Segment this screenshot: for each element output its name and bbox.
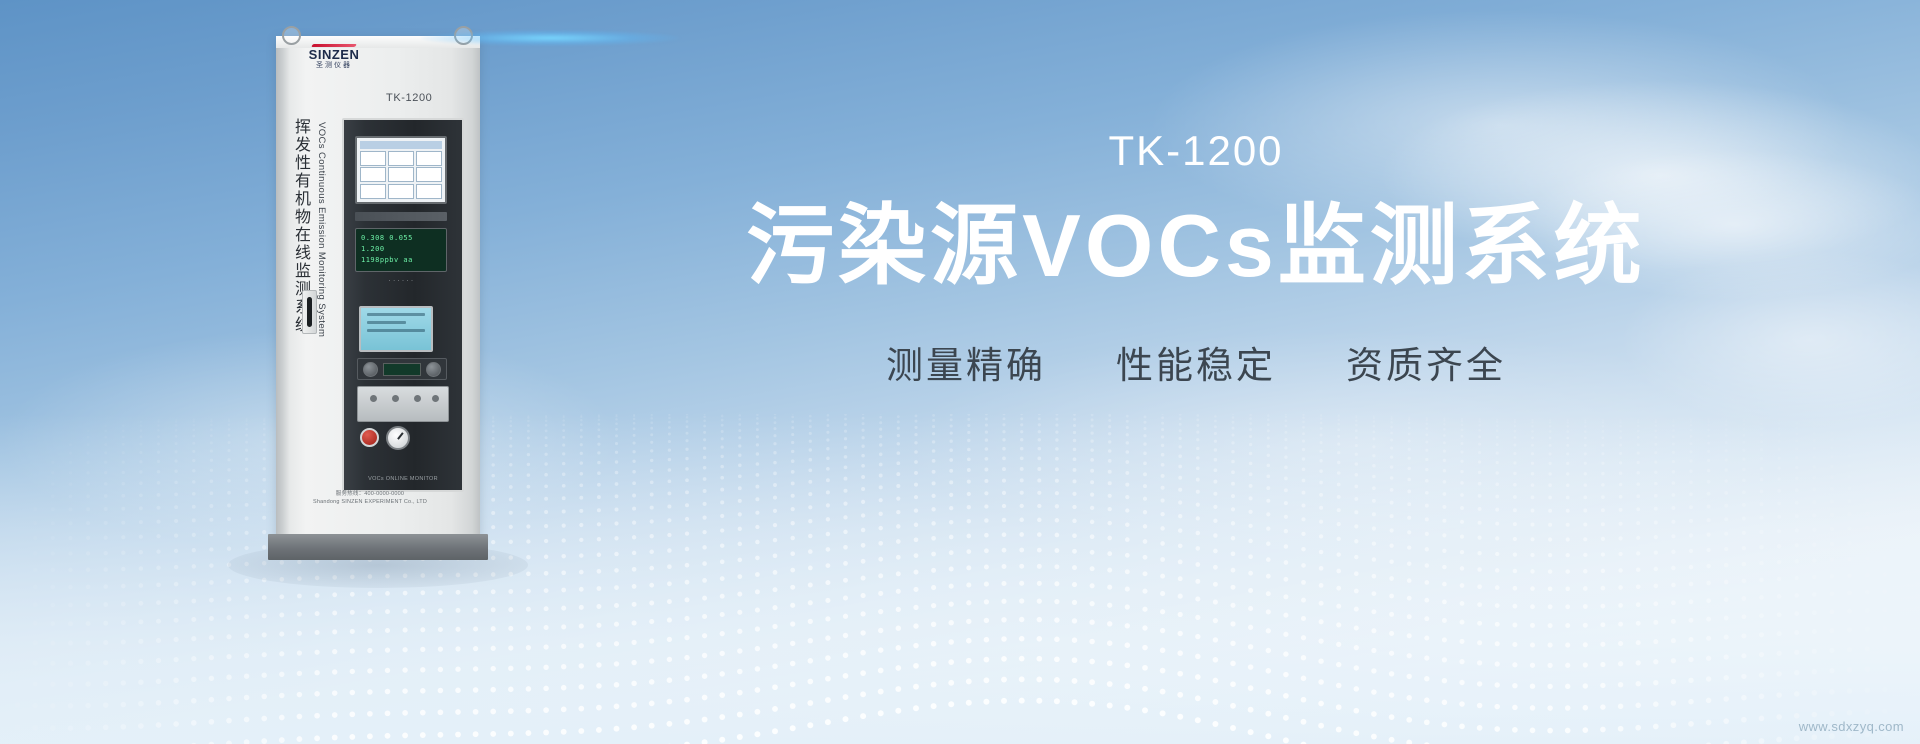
readout-line-2: 1198ppbv aa bbox=[361, 255, 441, 266]
brand-name: SINZEN bbox=[286, 48, 382, 61]
panel-strip bbox=[355, 212, 447, 221]
cabinet-base bbox=[268, 534, 488, 560]
valve-port-icon bbox=[414, 395, 421, 402]
hmi-cell bbox=[388, 151, 414, 166]
cabinet-vertical-text-en: VOCs Continuous Emission Monitoring Syst… bbox=[316, 122, 327, 337]
pressure-gauge-icon bbox=[386, 426, 410, 450]
feature-item: 资质齐全 bbox=[1346, 335, 1506, 389]
hmi-cell bbox=[360, 167, 386, 182]
handle-slot bbox=[307, 297, 312, 327]
digital-readout: 0.308 0.055 1.200 1198ppbv aa bbox=[355, 228, 447, 272]
eyebolt-icon bbox=[282, 26, 301, 45]
mini-display bbox=[383, 363, 421, 376]
brand-swoosh-icon bbox=[311, 44, 357, 47]
cabinet-door-panel: 0.308 0.055 1.200 1198ppbv aa · · · · · … bbox=[342, 118, 464, 492]
valve-port-icon bbox=[392, 395, 399, 402]
product-brand-logo: SINZEN 圣测仪器 bbox=[286, 44, 382, 69]
hmi-cell bbox=[388, 184, 414, 199]
site-watermark: www.sdxzyq.com bbox=[1799, 719, 1904, 734]
hmi-touchscreen bbox=[355, 136, 447, 204]
hmi-cell bbox=[360, 151, 386, 166]
hmi-cell bbox=[416, 151, 442, 166]
readout-line-1: 0.308 0.055 1.200 bbox=[361, 233, 441, 255]
cabinet-door-handle bbox=[302, 290, 317, 334]
emergency-stop-button bbox=[360, 428, 379, 447]
banner-copy: TK-1200 污染源VOCs监测系统 测量精确 性能稳定 资质齐全 bbox=[556, 130, 1836, 389]
feature-list: 测量精确 性能稳定 资质齐全 bbox=[556, 335, 1836, 389]
hmi-cell bbox=[388, 167, 414, 182]
valve-port-icon bbox=[432, 395, 439, 402]
cabinet-model-badge: TK-1200 bbox=[386, 92, 432, 104]
model-number: TK-1200 bbox=[556, 130, 1836, 172]
gauge-needle bbox=[397, 432, 403, 439]
lcd-line bbox=[367, 321, 406, 324]
light-glare bbox=[420, 30, 680, 46]
lcd-display bbox=[359, 306, 433, 352]
hmi-cell bbox=[360, 184, 386, 199]
feature-item: 测量精确 bbox=[886, 335, 1046, 389]
door-footer-text: VOCs ONLINE MONITOR bbox=[344, 476, 462, 482]
hmi-cell bbox=[416, 184, 442, 199]
cabinet-footer-line-1: 服务热线：400-0000-0000 bbox=[268, 490, 472, 498]
brand-name-cn: 圣测仪器 bbox=[286, 62, 382, 69]
knob-icon bbox=[363, 362, 378, 377]
lcd-line bbox=[367, 329, 425, 332]
hmi-cell bbox=[416, 167, 442, 182]
page-title: 污染源VOCs监测系统 bbox=[556, 198, 1836, 295]
cabinet-footer: 服务热线：400-0000-0000 Shandong SINZEN EXPER… bbox=[268, 490, 472, 506]
product-banner: SINZEN 圣测仪器 TK-1200 挥发性有机物在线监测系统 VOCs Co… bbox=[0, 0, 1920, 744]
valve-block bbox=[357, 386, 449, 422]
valve-port-icon bbox=[370, 395, 377, 402]
readout-caption: · · · · · · bbox=[355, 278, 447, 284]
product-image: SINZEN 圣测仪器 TK-1200 挥发性有机物在线监测系统 VOCs Co… bbox=[268, 22, 490, 562]
knob-icon bbox=[426, 362, 441, 377]
feature-item: 性能稳定 bbox=[1116, 335, 1276, 389]
hmi-titlebar bbox=[360, 141, 442, 149]
lcd-line bbox=[367, 313, 425, 316]
control-row bbox=[357, 358, 447, 380]
cabinet-footer-line-2: Shandong SINZEN EXPERIMENT Co., LTD bbox=[268, 498, 472, 506]
